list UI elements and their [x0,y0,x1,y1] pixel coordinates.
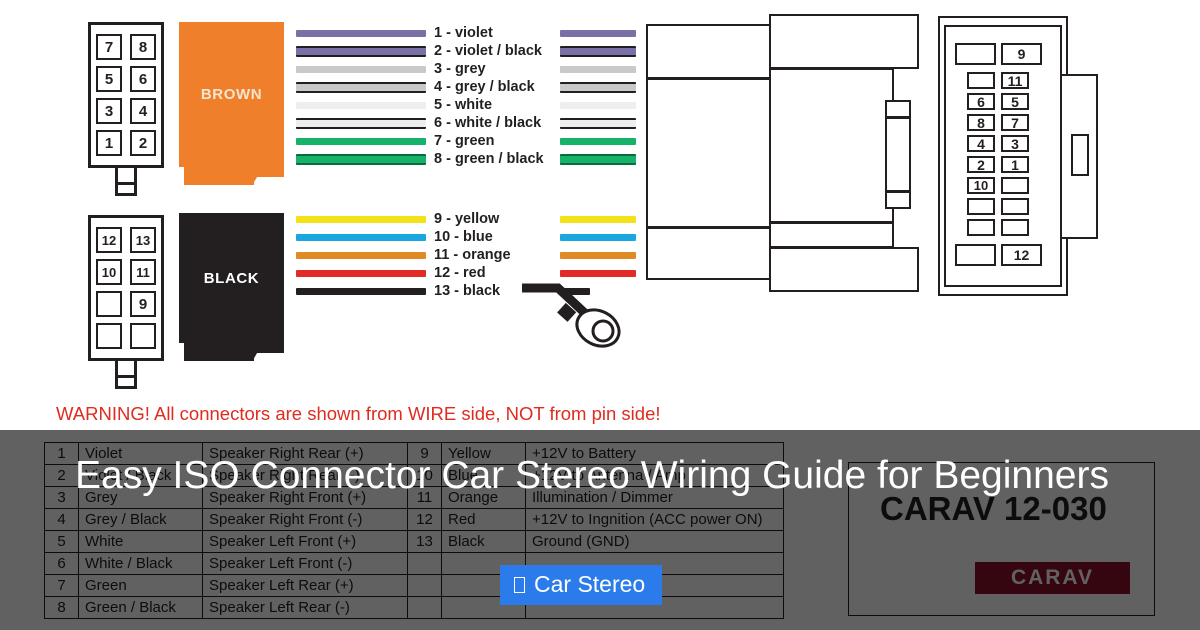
brown-pin: 1 [96,130,122,156]
black-pin: 9 [130,291,156,317]
vehicle-slot: 10 [967,177,995,194]
head-unit-outline-key-top [885,100,911,118]
overlay-title: Easy ISO Connector Car Stereo Wiring Gui… [75,452,1145,499]
wire-segment-right [560,270,636,277]
wire-row: 2 - violet / black [296,43,636,59]
vehicle-slot: 4 [967,135,995,152]
head-unit-outline-body-top [769,14,919,69]
vehicle-slot: 3 [1001,135,1029,152]
brown-connector-foot-lower [184,177,254,185]
ground-ring-terminal-icon [520,282,630,352]
wire-segment-right [560,138,636,145]
wire-row: 5 - white [296,97,636,113]
black-pin-grid-body: 12 13 10 11 9 [88,215,164,361]
wire-segment-right [560,46,636,57]
vehicle-slot: 9 [1001,43,1042,65]
brown-connector-foot [184,167,284,177]
wire-segment-left [296,66,426,73]
wire-row: 1 - violet [296,25,636,41]
vehicle-slot [1001,177,1029,194]
black-pin [96,323,122,349]
brown-pin: 6 [130,66,156,92]
wire-segment-right [560,216,636,223]
wire-row: 4 - grey / black [296,79,636,95]
wire-segment-left [296,102,426,109]
wire-label: 3 - grey [434,61,552,77]
vehicle-slot: 11 [1001,72,1029,89]
wire-row: 11 - orange [296,247,636,263]
head-unit-outline-body-bottom [769,247,919,292]
wire-segment-left [296,118,426,129]
wire-row: 7 - green [296,133,636,149]
head-unit-outline-middle-left [646,78,771,228]
page-root: 7 8 5 6 3 4 1 2 BROWN 12 13 10 [0,0,1200,630]
vehicle-side-connector: 9 11 6 5 8 7 4 3 2 1 10 12 [938,16,1098,296]
wire-label: 2 - violet / black [434,43,552,59]
brown-pin: 3 [96,98,122,124]
wire-segment-left [296,82,426,93]
black-connector-block: BLACK [179,213,284,343]
brown-connector-latch [115,168,137,185]
wire-segment-left [296,288,426,295]
head-unit-outline-key-mid [885,117,911,192]
black-pin: 12 [96,227,122,253]
wire-label: 4 - grey / black [434,79,552,95]
wire-label: 11 - orange [434,247,552,263]
head-unit-outline-body-strip [769,222,894,248]
black-pin: 13 [130,227,156,253]
black-pin [130,323,156,349]
brown-connector-block: BROWN [179,22,284,167]
wire-label: 6 - white / black [434,115,552,131]
vehicle-slot: 6 [967,93,995,110]
head-unit-outline-upper-left [646,24,771,79]
head-unit-outline-body-main [769,68,894,223]
black-pin [96,291,122,317]
wire-segment-right [560,102,636,109]
wire-label: 10 - blue [434,229,552,245]
wire-label: 9 - yellow [434,211,552,227]
category-badge-label: Car Stereo [534,571,645,598]
vehicle-slot: 7 [1001,114,1029,131]
wire-label: 8 - green / black [434,151,552,167]
wire-segment-right [560,66,636,73]
brown-pin: 5 [96,66,122,92]
brown-pin: 2 [130,130,156,156]
category-badge[interactable]: Car Stereo [500,565,662,605]
wire-row: 6 - white / black [296,115,636,131]
wire-segment-right [560,252,636,259]
wire-label: 7 - green [434,133,552,149]
vehicle-slot [1001,198,1029,215]
vehicle-slot: 5 [1001,93,1029,110]
wire-segment-right [560,234,636,241]
wire-row: 10 - blue [296,229,636,245]
wire-segment-left [296,216,426,223]
brown-pin-grid-body: 7 8 5 6 3 4 1 2 [88,22,164,168]
black-pin: 10 [96,259,122,285]
vehicle-slot [967,219,995,236]
vehicle-slot: 8 [967,114,995,131]
brown-pin: 4 [130,98,156,124]
wire-segment-right [560,154,636,165]
wire-segment-left [296,30,426,37]
vehicle-slot: 2 [967,156,995,173]
vehicle-slot [1001,219,1029,236]
wire-segment-left [296,46,426,57]
black-connector-label: BLACK [204,270,260,287]
black-connector-foot-lower [184,353,254,361]
brown-pin: 8 [130,34,156,60]
wire-segment-right [560,30,636,37]
brown-connector-label: BROWN [201,86,262,103]
missing-glyph-icon [514,577,525,593]
black-connector-foot [184,343,284,353]
wire-segment-left [296,252,426,259]
wire-label: 5 - white [434,97,552,113]
wire-row: 3 - grey [296,61,636,77]
brown-connector-pin-grid: 7 8 5 6 3 4 1 2 [88,22,164,190]
vehicle-slot: 12 [1001,244,1042,266]
black-connector-pin-grid: 12 13 10 11 9 [88,215,164,383]
vehicle-slot [967,198,995,215]
wire-segment-left [296,138,426,145]
head-unit-outline-lower-left [646,227,771,280]
vehicle-slot [955,244,996,266]
vehicle-connector-side-key [1071,134,1089,176]
wire-segment-left [296,270,426,277]
brown-connector-latch-base [115,185,137,196]
vehicle-slot [955,43,996,65]
vehicle-slot: 1 [1001,156,1029,173]
black-connector-latch [115,361,137,378]
wire-label: 12 - red [434,265,552,281]
black-connector-latch-base [115,378,137,389]
vehicle-slot [967,72,995,89]
wire-row: 12 - red [296,265,636,281]
wire-segment-left [296,234,426,241]
brown-pin: 7 [96,34,122,60]
wire-label: 1 - violet [434,25,552,41]
warning-text: WARNING! All connectors are shown from W… [56,403,661,425]
wire-segment-right [560,118,636,129]
wire-row: 9 - yellow [296,211,636,227]
wire-segment-left [296,154,426,165]
head-unit-outline-key-bottom [885,191,911,209]
wire-segment-right [560,82,636,93]
black-pin: 11 [130,259,156,285]
wire-row: 8 - green / black [296,151,636,167]
